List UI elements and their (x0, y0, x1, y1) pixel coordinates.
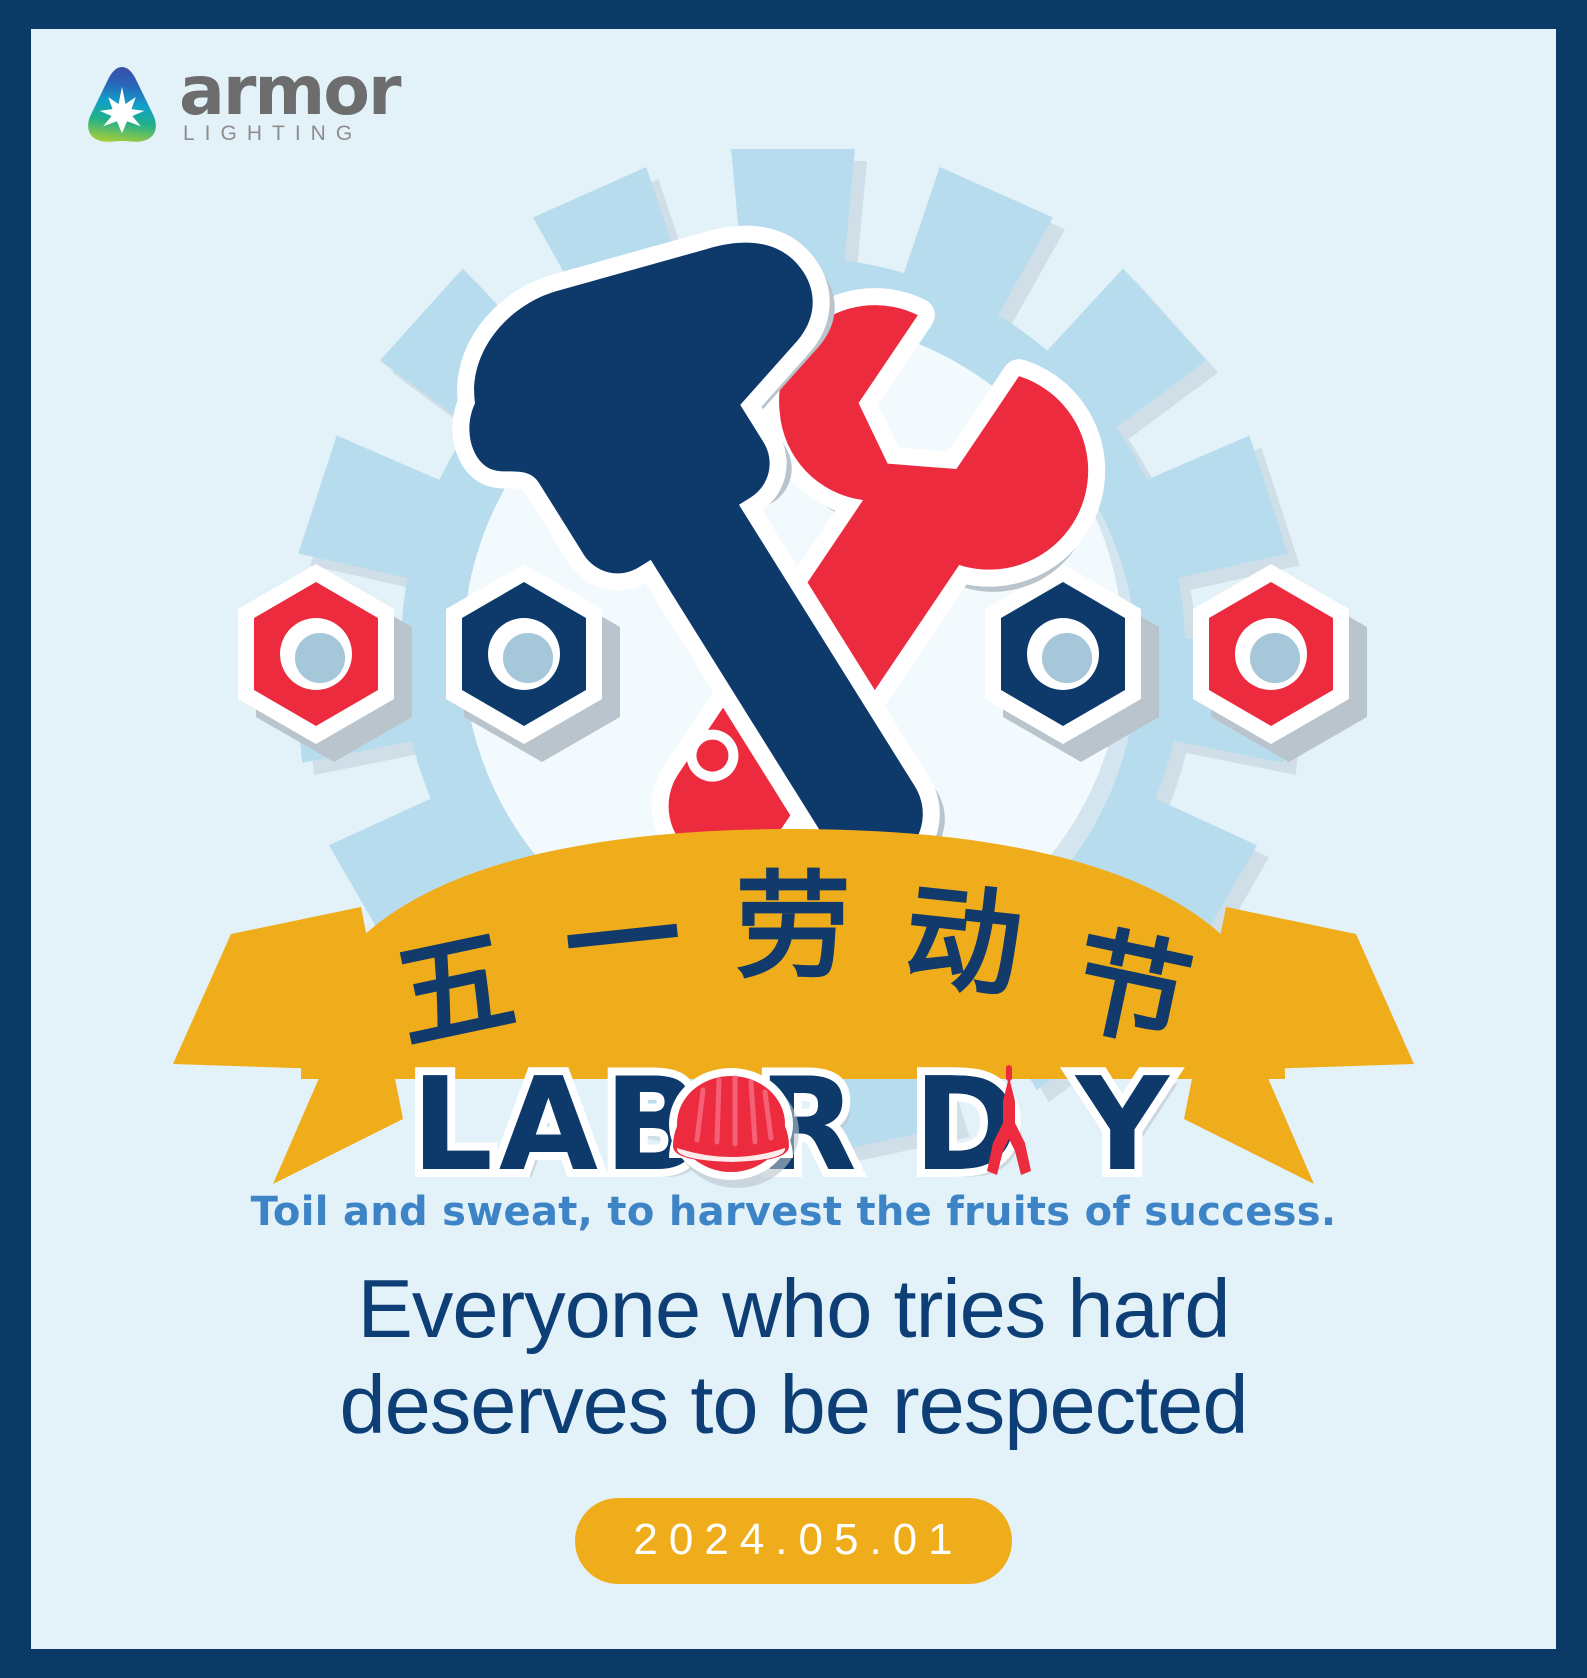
labor-day-poster: armor LIGHTING (0, 0, 1587, 1678)
poster-tagline: Toil and sweat, to harvest the fruits of… (31, 1189, 1556, 1235)
headline-line-1: Everyone who tries hard (31, 1261, 1556, 1357)
date-badge: 2024.05.01 (575, 1498, 1011, 1584)
ribbon-char-3: 动 (898, 869, 1027, 1015)
brand-logo: armor LIGHTING (79, 61, 400, 147)
headline-line-2: deserves to be respected (31, 1357, 1556, 1453)
poster-headline: Everyone who tries hard deserves to be r… (31, 1261, 1556, 1454)
labor-day-emblem: 五 一 劳 动 节 LAB R D Y LAB R D Y LAB R D Y (31, 29, 1556, 1229)
poster-canvas: armor LIGHTING (31, 29, 1556, 1649)
emblem-artwork: 五 一 劳 动 节 LAB R D Y LAB R D Y LAB R D Y (31, 29, 1556, 1229)
labor-day-wordmark: LAB R D Y LAB R D Y LAB R D Y (411, 1051, 1182, 1208)
brand-wordmark: armor LIGHTING (179, 64, 400, 145)
ribbon-char-1: 一 (558, 869, 687, 1015)
armor-triangle-starburst-logo (79, 61, 165, 147)
poster-copy: Toil and sweat, to harvest the fruits of… (31, 1189, 1556, 1584)
ribbon-char-2: 劳 (735, 860, 851, 995)
brand-name: armor (179, 64, 400, 120)
brand-tagline: LIGHTING (183, 123, 362, 144)
